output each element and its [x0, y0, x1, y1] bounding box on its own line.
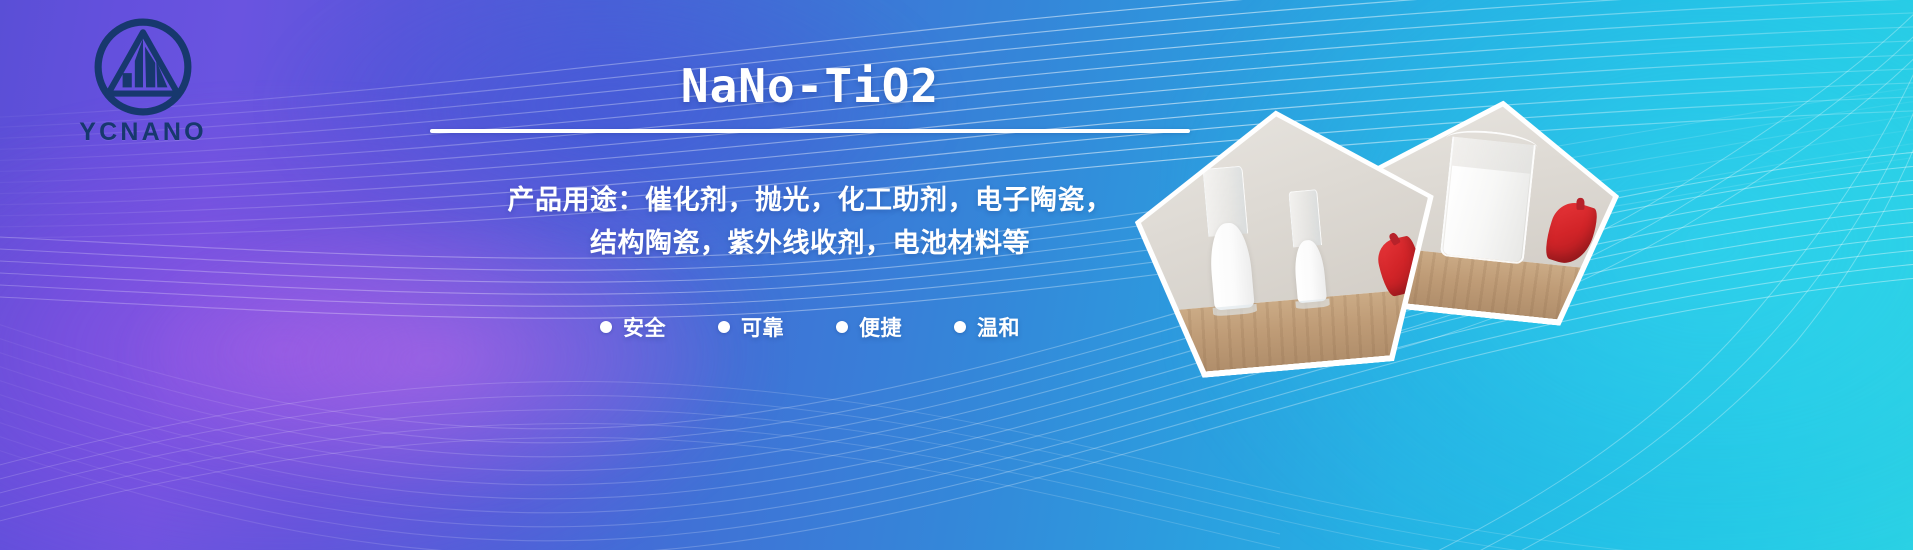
beaker-shape — [1440, 136, 1536, 264]
feature-label: 便捷 — [859, 312, 902, 342]
page-title: NaNo-TiO2 — [430, 60, 1190, 113]
dot-icon — [954, 321, 966, 333]
product-usage-line-2: 结构陶瓷，紫外线收剂，电池材料等 — [430, 222, 1190, 265]
title-divider — [430, 129, 1190, 133]
feature-label: 安全 — [623, 312, 666, 342]
feature-item-reliable: 可靠 — [718, 312, 784, 342]
feature-list: 安全 可靠 便捷 温和 — [430, 312, 1190, 342]
product-usage-line-1: 产品用途：催化剂，抛光，化工助剂，电子陶瓷， — [430, 179, 1190, 222]
dot-icon — [718, 321, 730, 333]
brand-name: YCNANO — [79, 120, 207, 145]
hero-content: NaNo-TiO2 产品用途：催化剂，抛光，化工助剂，电子陶瓷， 结构陶瓷，紫外… — [430, 60, 1190, 342]
dot-icon — [600, 321, 612, 333]
feature-item-safe: 安全 — [600, 312, 666, 342]
mountain-triangle-in-circle-icon — [92, 16, 194, 118]
product-usage-text: 产品用途：催化剂，抛光，化工助剂，电子陶瓷， 结构陶瓷，紫外线收剂，电池材料等 — [430, 179, 1190, 264]
feature-label: 可靠 — [741, 312, 784, 342]
brand-logo[interactable]: YCNANO — [48, 16, 238, 166]
product-banner: YCNANO NaNo-TiO2 产品用途：催化剂，抛光，化工助剂，电子陶瓷， … — [0, 0, 1913, 550]
product-photo-group — [1115, 0, 1895, 550]
feature-item-convenient: 便捷 — [836, 312, 902, 342]
feature-label: 温和 — [977, 312, 1020, 342]
dot-icon — [836, 321, 848, 333]
feature-item-mild: 温和 — [954, 312, 1020, 342]
